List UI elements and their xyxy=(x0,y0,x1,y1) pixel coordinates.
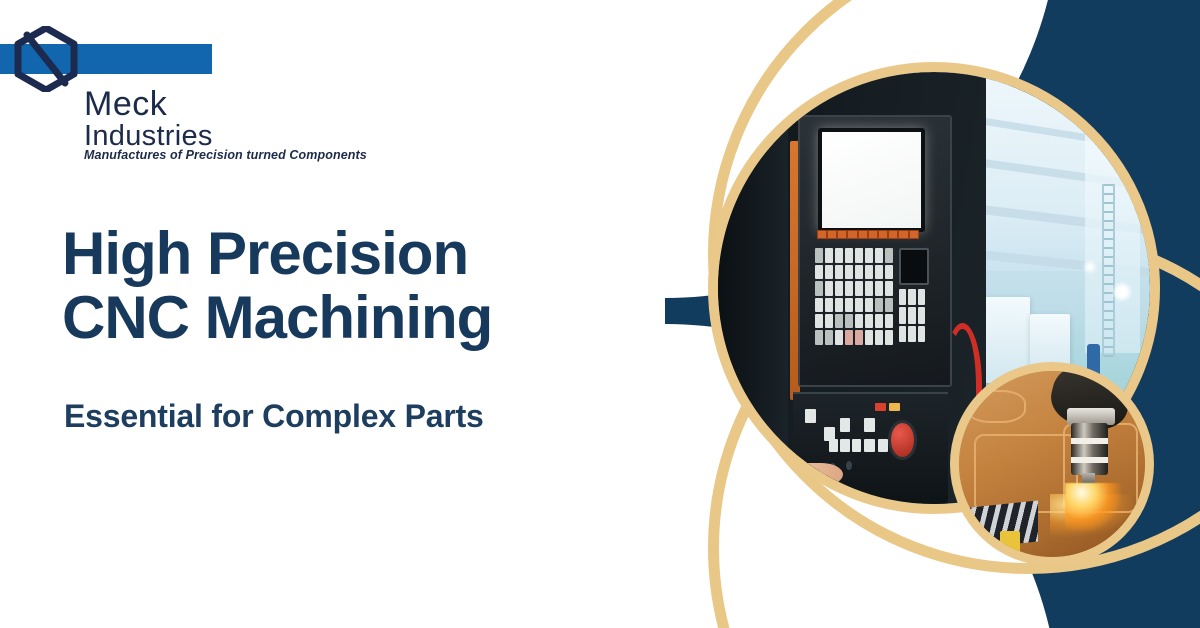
console-button xyxy=(840,418,851,431)
factory-lamp xyxy=(1085,262,1095,272)
console-button xyxy=(840,439,851,452)
console-button xyxy=(805,409,816,422)
keyswitch xyxy=(846,461,852,470)
spark-glow xyxy=(1065,483,1121,531)
cnc-secondary-display xyxy=(899,248,928,284)
factory-ladder xyxy=(1102,184,1115,357)
page-title: High Precision CNC Machining xyxy=(62,222,682,349)
cnc-keypad xyxy=(815,248,893,344)
indicator-lamp-amber xyxy=(889,403,900,411)
brand-name-line2: Industries xyxy=(84,123,213,151)
page-subtitle: Essential for Complex Parts xyxy=(64,398,484,435)
console-button xyxy=(864,439,875,452)
cnc-softkey-row xyxy=(817,230,919,240)
nozzle-band xyxy=(1071,438,1108,445)
cnc-lower-console xyxy=(793,392,948,504)
operator-hand xyxy=(790,463,843,485)
cut-outline xyxy=(966,390,1026,424)
cabinet-side xyxy=(718,72,788,504)
brand-logo[interactable]: Meck Industries Manufactures of Precisio… xyxy=(0,0,560,180)
brand-name-line1: Meck xyxy=(84,88,213,121)
cnc-control-cabinet xyxy=(718,72,986,504)
hexagon-slash-logo-icon xyxy=(14,26,78,92)
cnc-operator-panel xyxy=(798,115,952,387)
factory-lamp xyxy=(1114,284,1130,300)
console-button xyxy=(878,439,887,452)
nozzle-band xyxy=(1071,457,1108,464)
cnc-screen xyxy=(818,128,925,232)
brand-name: Meck Industries xyxy=(84,88,213,150)
emergency-stop-button xyxy=(891,423,914,457)
secondary-photo-circle xyxy=(950,362,1154,566)
console-button xyxy=(864,418,875,431)
headline-line-2: CNC Machining xyxy=(62,286,682,350)
console-button xyxy=(852,439,861,452)
brand-tagline: Manufactures of Precision turned Compone… xyxy=(84,148,367,162)
promo-banner: Meck Industries Manufactures of Precisio… xyxy=(0,0,1200,628)
cnc-direction-pad xyxy=(899,289,924,343)
cutting-head-nozzle xyxy=(1071,423,1108,475)
headline-line-1: High Precision xyxy=(62,222,682,286)
indicator-lamp-red xyxy=(875,403,886,411)
yellow-marker xyxy=(1000,531,1020,553)
console-button xyxy=(829,439,838,452)
